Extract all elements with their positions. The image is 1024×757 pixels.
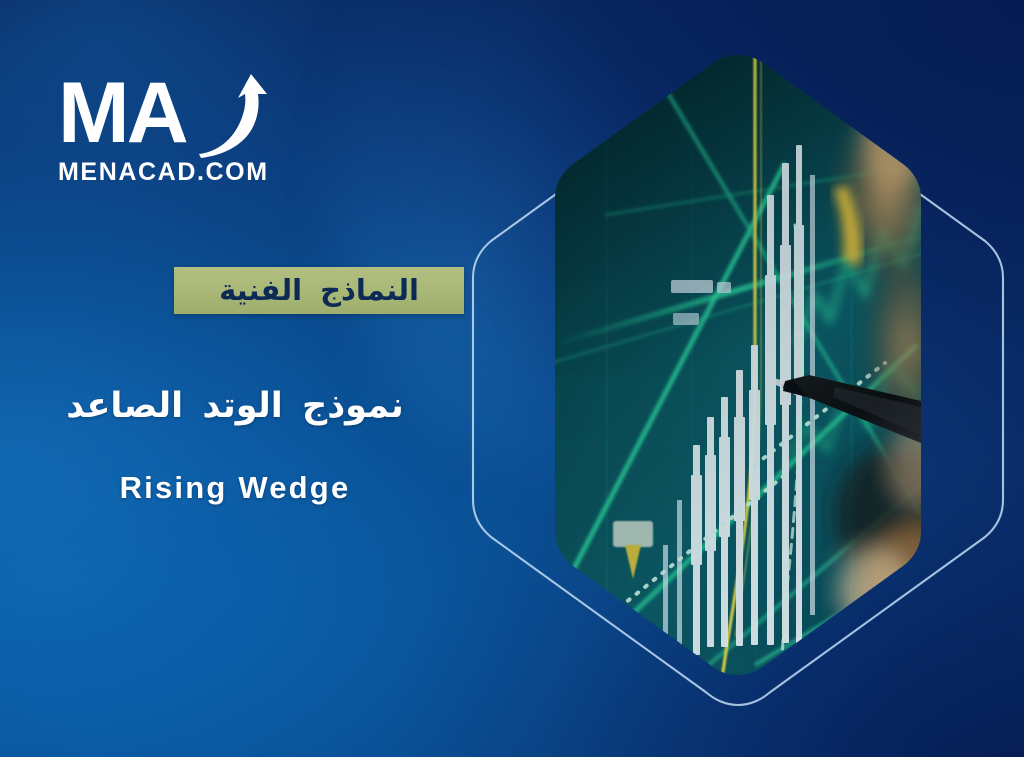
logo[interactable]: MA MENACAD.COM bbox=[58, 72, 298, 187]
up-right-arrow-icon bbox=[183, 68, 275, 160]
page-title-english: Rising Wedge bbox=[0, 470, 470, 506]
hexagon-photo-frame bbox=[455, 45, 1024, 725]
category-badge: النماذج الفنية bbox=[174, 267, 464, 314]
page-title-arabic: نموذج الوتد الصاعد bbox=[0, 386, 470, 426]
hexagon-artwork bbox=[455, 45, 1024, 725]
logo-mark: MA bbox=[58, 72, 298, 154]
category-badge-label: النماذج الفنية bbox=[219, 273, 419, 307]
logo-site-url: MENACAD.COM bbox=[58, 158, 298, 187]
